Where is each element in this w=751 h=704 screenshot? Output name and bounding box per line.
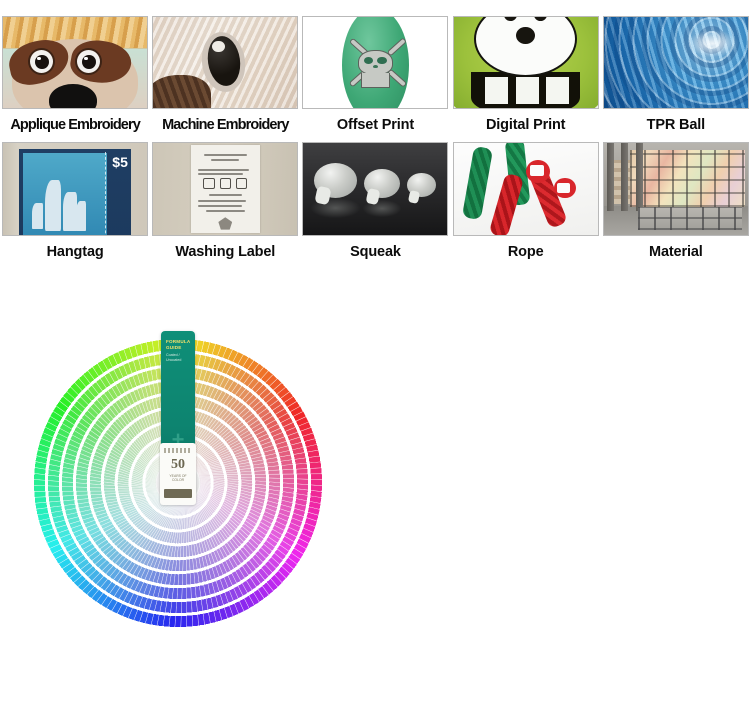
- feature-cell-hangtag[interactable]: $5 PET DEP Hangtag: [0, 142, 150, 261]
- feature-grid: Applique Embroidery Machine Embroidery: [0, 0, 751, 261]
- anniversary-card: 50 YEARS OF COLOR: [160, 443, 196, 505]
- anniversary-card-bar: [164, 489, 192, 498]
- formula-guide-subtitle: Coated / Uncoated: [166, 353, 191, 362]
- rope-icon[interactable]: [453, 142, 599, 236]
- feature-label: Digital Print: [486, 116, 565, 134]
- page-root: Applique Embroidery Machine Embroidery: [0, 0, 751, 704]
- feature-label: Machine Embroidery: [162, 116, 288, 134]
- feature-label: Squeak: [350, 243, 401, 261]
- hangtag-price: $5: [112, 154, 128, 170]
- feature-cell-rope[interactable]: Rope: [451, 142, 601, 261]
- anniversary-card-rule: [164, 448, 192, 453]
- formula-guide-title: FORMULA GUIDE: [166, 339, 191, 350]
- feature-label: Offset Print: [337, 116, 414, 134]
- tpr-ball-icon[interactable]: [603, 16, 749, 109]
- anniversary-caption: YEARS OF COLOR: [163, 474, 193, 483]
- feature-cell-offset-print[interactable]: Offset Print: [300, 16, 450, 134]
- hangtag-brand: PET DEP: [25, 233, 115, 236]
- offset-print-icon[interactable]: [302, 16, 448, 109]
- feature-cell-tpr-ball[interactable]: TPR Ball: [601, 16, 751, 134]
- feature-cell-squeak[interactable]: Squeak: [300, 142, 450, 261]
- hangtag-icon[interactable]: $5 PET DEP: [2, 142, 148, 236]
- machine-embroidery-icon[interactable]: [152, 16, 298, 109]
- applique-embroidery-icon[interactable]: [2, 16, 148, 109]
- feature-cell-digital-print[interactable]: Digital Print: [451, 16, 601, 134]
- anniversary-number: 50: [160, 457, 196, 473]
- pms-section: FORMULA GUIDE Coated / Uncoated + 50 YEA…: [0, 285, 751, 704]
- feature-row-2: $5 PET DEP Hangtag: [0, 134, 751, 261]
- pantone-fan-deck-image: FORMULA GUIDE Coated / Uncoated + 50 YEA…: [16, 321, 340, 645]
- feature-cell-material[interactable]: Material: [601, 142, 751, 261]
- feature-row-1: Applique Embroidery Machine Embroidery: [0, 0, 751, 134]
- feature-cell-washing-label[interactable]: Washing Label: [150, 142, 300, 261]
- feature-label: Applique Embroidery: [10, 116, 140, 134]
- feature-label: Washing Label: [175, 243, 275, 261]
- feature-label: Rope: [508, 243, 544, 261]
- feature-cell-machine-embroidery[interactable]: Machine Embroidery: [150, 16, 300, 134]
- squeak-icon[interactable]: [302, 142, 448, 236]
- feature-label: Hangtag: [47, 243, 104, 261]
- feature-label: Material: [649, 243, 703, 261]
- digital-print-icon[interactable]: [453, 16, 599, 109]
- feature-cell-applique-embroidery[interactable]: Applique Embroidery: [0, 16, 150, 134]
- feature-label: TPR Ball: [647, 116, 705, 134]
- washing-label-icon[interactable]: [152, 142, 298, 236]
- material-icon[interactable]: [603, 142, 749, 236]
